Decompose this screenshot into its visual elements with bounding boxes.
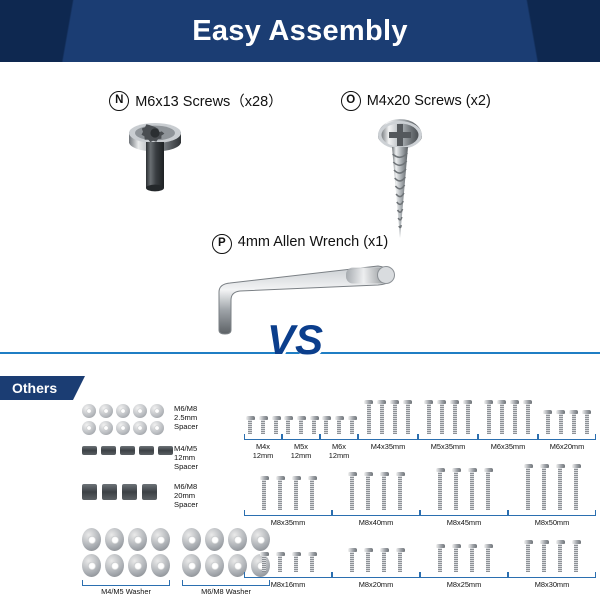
spacer-icon <box>102 484 117 500</box>
screw-icon <box>390 400 399 434</box>
screw-group: M8x50mm <box>508 466 596 528</box>
screw-icon <box>436 468 445 510</box>
washer-icon <box>128 528 147 551</box>
spacer-group-3-label: M6/M8 20mm Spacer <box>174 482 198 510</box>
screw-group: M8x45mm <box>420 466 508 528</box>
brace <box>478 434 538 440</box>
spacer-icon <box>120 446 135 455</box>
washer-icon <box>133 404 147 418</box>
screw-group: M6x20mm <box>538 400 596 452</box>
washer-icon <box>150 404 164 418</box>
screw-icon <box>556 410 565 434</box>
screw-icon <box>260 552 269 572</box>
hardware-label-p: P 4mm Allen Wrench (x1) <box>0 234 600 254</box>
hardware-label-n-text: M6x13 Screws（x28） <box>135 90 282 111</box>
washer-icon <box>128 554 147 577</box>
screw-group-label: M5x35mm <box>418 442 478 451</box>
spacer-group-1-label: M6/M8 2.5mm Spacer <box>174 404 198 432</box>
screw-group: M6x35mm <box>478 400 538 452</box>
screw-group: M6x 12mm <box>320 400 358 452</box>
page-title: Easy Assembly <box>192 15 408 48</box>
screw-icon <box>524 540 533 572</box>
spacer-icon <box>122 484 137 500</box>
washer-group-m4m5: M4/M5 Washer <box>82 528 170 596</box>
spacer-icon <box>101 446 116 455</box>
washer-icon <box>205 554 224 577</box>
screw-icon <box>524 464 533 510</box>
screw-group-label: M8x35mm <box>244 518 332 527</box>
screw-icon <box>260 476 269 510</box>
brace <box>244 510 332 516</box>
screw-icon <box>484 400 493 434</box>
hardware-label-p-text: 4mm Allen Wrench (x1) <box>238 234 388 254</box>
brace <box>508 572 596 578</box>
screw-icon <box>484 544 493 572</box>
torx-flat-head-screw-icon <box>118 120 192 203</box>
screw-group: M8x35mm <box>244 466 332 528</box>
screw-icon <box>380 472 389 510</box>
bigwasher-row <box>82 554 170 577</box>
screw-icon <box>540 464 549 510</box>
screw-icon <box>348 472 357 510</box>
screw-icon <box>556 540 565 572</box>
washer-icon <box>82 528 101 551</box>
screw-group-label: M8x40mm <box>332 518 420 527</box>
screw-icon <box>510 400 519 434</box>
screw-icon <box>335 416 344 434</box>
screw-icon <box>348 548 357 572</box>
screw-group-label: M8x20mm <box>332 580 420 589</box>
hardware-label-row: N M6x13 Screws（x28） O M4x20 Screws (x2) <box>0 90 600 111</box>
washer-icon <box>151 528 170 551</box>
bigwasher-row <box>82 528 170 551</box>
screw-group-label: M6x20mm <box>538 442 596 451</box>
spacer-icon <box>139 446 154 455</box>
screw-icon <box>523 400 532 434</box>
screw-icon <box>364 548 373 572</box>
screw-icon <box>259 416 268 434</box>
washer-icon <box>82 404 96 418</box>
screw-group: M4x35mm <box>358 400 418 452</box>
screw-group: M8x30mm <box>508 538 596 594</box>
brace <box>538 434 596 440</box>
screw-icon <box>497 400 506 434</box>
screw-group: M4x 12mm <box>244 400 282 452</box>
washer-icon <box>151 554 170 577</box>
brace <box>418 434 478 440</box>
screw-icon <box>364 472 373 510</box>
screw-icon <box>403 400 412 434</box>
washer-icon <box>182 528 201 551</box>
screw-group-label: M8x25mm <box>420 580 508 589</box>
spacer-icon <box>158 446 173 455</box>
badge-p-icon: P <box>212 234 232 254</box>
screw-group-label: M6x 12mm <box>320 442 358 460</box>
screw-icon <box>468 544 477 572</box>
screw-icon <box>292 476 301 510</box>
brace <box>244 434 282 440</box>
brace <box>332 572 420 578</box>
brace <box>332 510 420 516</box>
screw-icon <box>452 468 461 510</box>
screw-icon <box>276 476 285 510</box>
screw-grid-row-3: M8x16mm M8x20mm <box>244 538 596 594</box>
screw-group-label: M4x 12mm <box>244 442 282 460</box>
others-hardware-panel: Others M6/M8 2.5mm Spacer <box>0 368 600 600</box>
others-screw-grid: M4x 12mm M5x 12mm M6x 12mm <box>244 400 596 594</box>
screw-group: M8x25mm <box>420 538 508 594</box>
hardware-label-o: O M4x20 Screws (x2) <box>341 90 491 111</box>
screw-icon <box>276 552 285 572</box>
screw-icon <box>272 416 281 434</box>
screw-icon <box>572 540 581 572</box>
vs-divider: VS <box>0 336 600 370</box>
brace <box>82 580 170 586</box>
screw-icon <box>556 464 565 510</box>
washer-icon <box>99 404 113 418</box>
screw-icon <box>297 416 306 434</box>
spacer-group-2-label: M4/M5 12mm Spacer <box>174 444 198 472</box>
brace <box>420 572 508 578</box>
screw-group: M5x35mm <box>418 400 478 452</box>
screw-icon <box>308 476 317 510</box>
washer-icon <box>105 554 124 577</box>
screw-icon <box>246 416 255 434</box>
badge-o-icon: O <box>341 91 361 111</box>
screw-icon <box>484 468 493 510</box>
washer-icon <box>82 421 96 435</box>
ours-hardware-panel: N M6x13 Screws（x28） O M4x20 Screws (x2) <box>0 62 600 345</box>
screw-icon <box>582 410 591 434</box>
washer-icon <box>116 421 130 435</box>
screw-group-label: M5x 12mm <box>282 442 320 460</box>
washer-icon <box>150 421 164 435</box>
screw-icon <box>380 548 389 572</box>
screw-group-label: M4x35mm <box>358 442 418 451</box>
screw-icon <box>424 400 433 434</box>
brace <box>244 572 332 578</box>
screw-group-label: M8x16mm <box>244 580 332 589</box>
washer-icon <box>99 421 113 435</box>
screw-group-label: M8x50mm <box>508 518 596 527</box>
screw-icon <box>364 400 373 434</box>
washer-icon <box>82 554 101 577</box>
brace <box>282 434 320 440</box>
screw-icon <box>308 552 317 572</box>
screw-group: M8x40mm <box>332 466 420 528</box>
screw-icon <box>468 468 477 510</box>
screw-icon <box>396 548 405 572</box>
hardware-label-n: N M6x13 Screws（x28） <box>109 90 282 111</box>
screw-icon <box>452 544 461 572</box>
screw-icon <box>284 416 293 434</box>
screw-icon <box>543 410 552 434</box>
spacer-icon <box>82 484 97 500</box>
screw-icon <box>463 400 472 434</box>
brace <box>508 510 596 516</box>
screw-icon <box>377 400 386 434</box>
header-banner: Easy Assembly <box>0 0 600 62</box>
brace <box>420 510 508 516</box>
screw-icon <box>310 416 319 434</box>
screw-icon <box>572 464 581 510</box>
washer-icon <box>205 528 224 551</box>
screw-icon <box>436 544 445 572</box>
screw-icon <box>348 416 357 434</box>
washer-icon <box>116 404 130 418</box>
screw-group: M8x16mm <box>244 538 332 594</box>
screw-group: M8x20mm <box>332 538 420 594</box>
screw-icon <box>322 416 331 434</box>
screw-icon <box>292 552 301 572</box>
screw-icon <box>450 400 459 434</box>
hardware-label-o-text: M4x20 Screws (x2) <box>367 93 491 109</box>
washer-group-m4m5-label: M4/M5 Washer <box>82 587 170 596</box>
screw-group-label: M8x45mm <box>420 518 508 527</box>
badge-n-icon: N <box>109 91 129 111</box>
spacer-icon <box>82 446 97 455</box>
spacer-icon <box>142 484 157 500</box>
screw-icon <box>540 540 549 572</box>
washer-icon <box>105 528 124 551</box>
phillips-pan-head-wood-screw-icon <box>372 114 428 249</box>
vs-label: VS <box>267 316 323 364</box>
screw-icon <box>569 410 578 434</box>
brace <box>320 434 358 440</box>
screw-group-label: M6x35mm <box>478 442 538 451</box>
screw-grid-row-2: M8x35mm M8x40mm <box>244 466 596 528</box>
others-tab-label: Others <box>0 376 73 400</box>
screw-group: M5x 12mm <box>282 400 320 452</box>
screw-group-label: M8x30mm <box>508 580 596 589</box>
screw-icon <box>396 472 405 510</box>
screw-icon <box>437 400 446 434</box>
screw-grid-row-1: M4x 12mm M5x 12mm M6x 12mm <box>244 400 596 452</box>
brace <box>358 434 418 440</box>
washer-icon <box>133 421 147 435</box>
washer-icon <box>182 554 201 577</box>
